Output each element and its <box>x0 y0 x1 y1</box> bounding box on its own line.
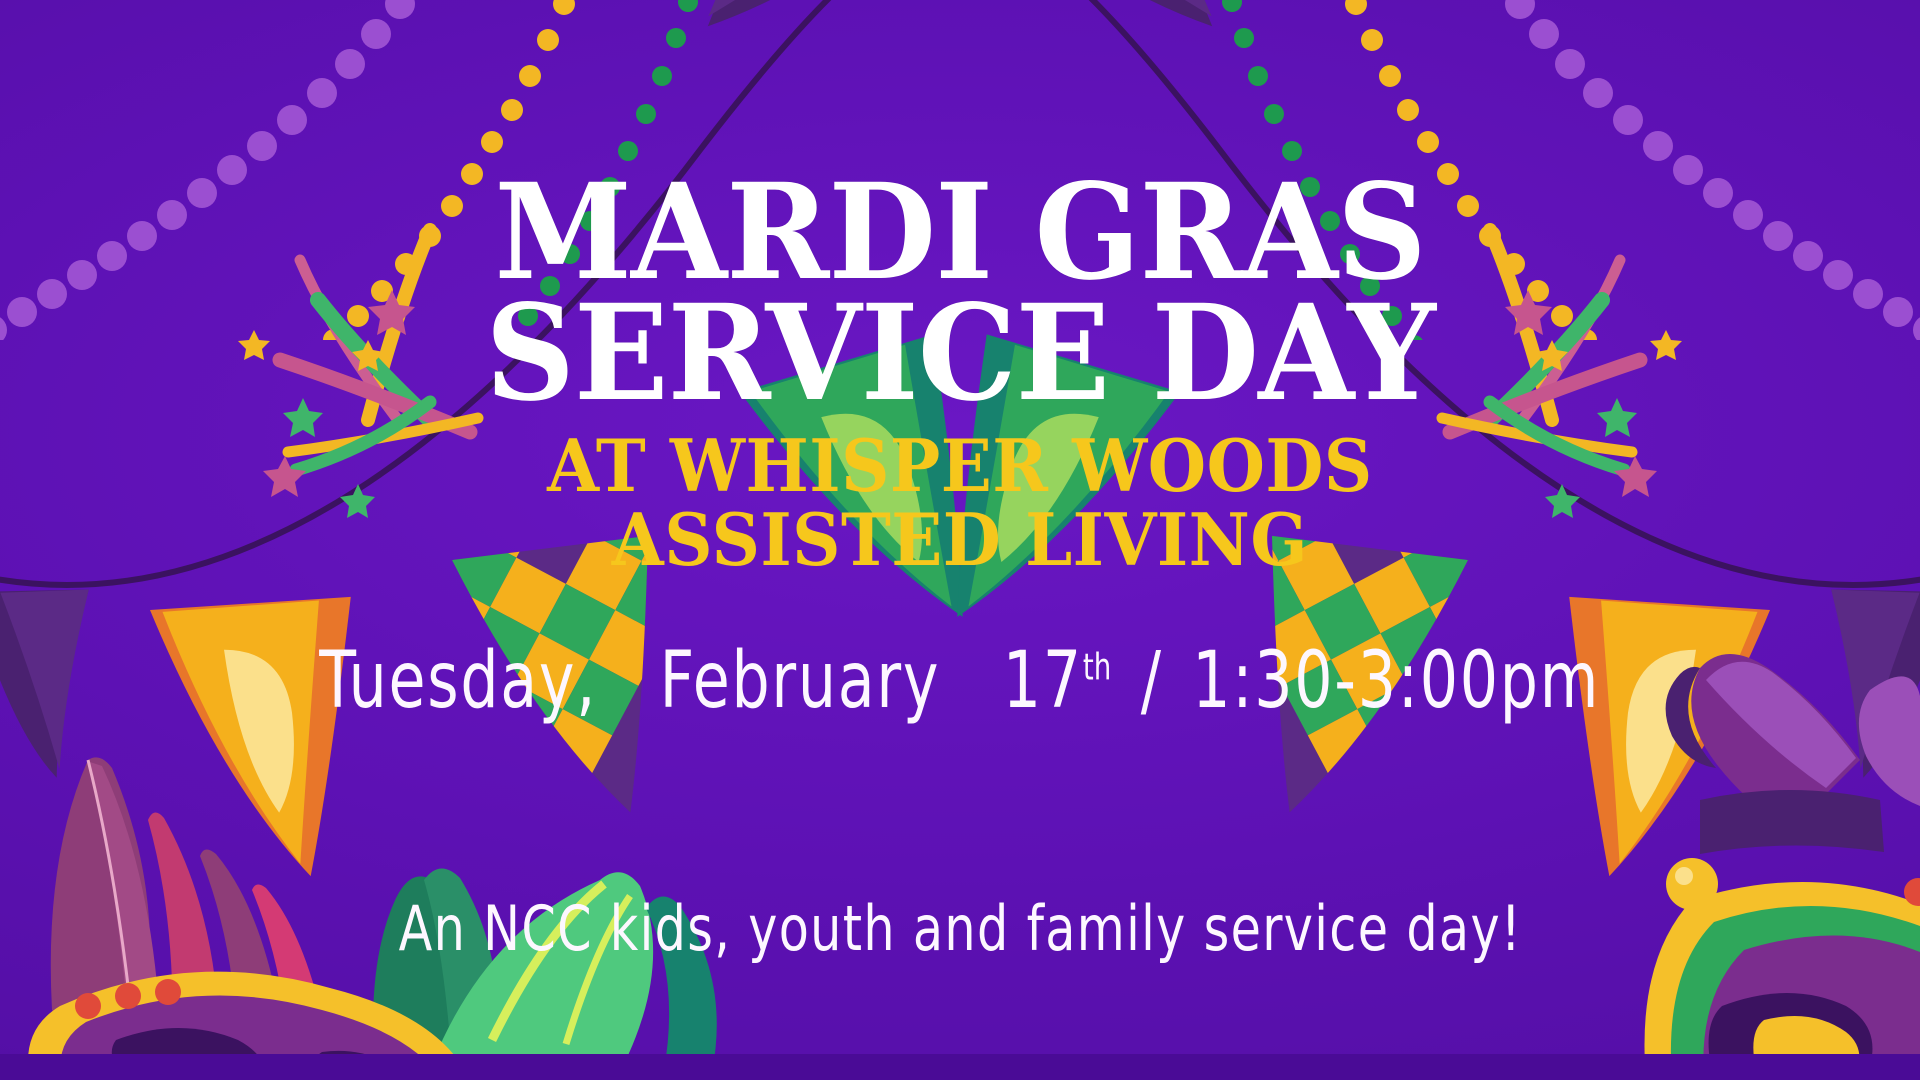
datetime-separator: / <box>1132 634 1171 726</box>
mardi-gras-event-poster: MARDI GRAS SERVICE DAY AT WHISPER WOODS … <box>0 0 1920 1080</box>
poster-text-content: MARDI GRAS SERVICE DAY AT WHISPER WOODS … <box>0 0 1920 962</box>
venue-subtitle: AT WHISPER WOODS ASSISTED LIVING <box>547 429 1373 577</box>
bottom-strip <box>0 1054 1920 1080</box>
event-day: Tuesday, <box>320 634 598 726</box>
headline-line-1: MARDI GRAS <box>485 172 1435 293</box>
headline-line-2: SERVICE DAY <box>485 293 1435 414</box>
event-datetime: Tuesday, February 17th / 1:30-3:00pm <box>320 634 1601 726</box>
event-date-suffix: th <box>1083 646 1111 689</box>
event-month: February <box>660 634 941 726</box>
page-title: MARDI GRAS SERVICE DAY <box>485 172 1435 415</box>
event-tagline: An NCC kids, youth and family service da… <box>398 893 1521 966</box>
event-time: 1:30-3:00pm <box>1193 634 1601 726</box>
venue-line-2: ASSISTED LIVING <box>547 503 1373 577</box>
venue-line-1: AT WHISPER WOODS <box>547 429 1373 503</box>
event-date-number: 17 <box>1003 634 1083 726</box>
